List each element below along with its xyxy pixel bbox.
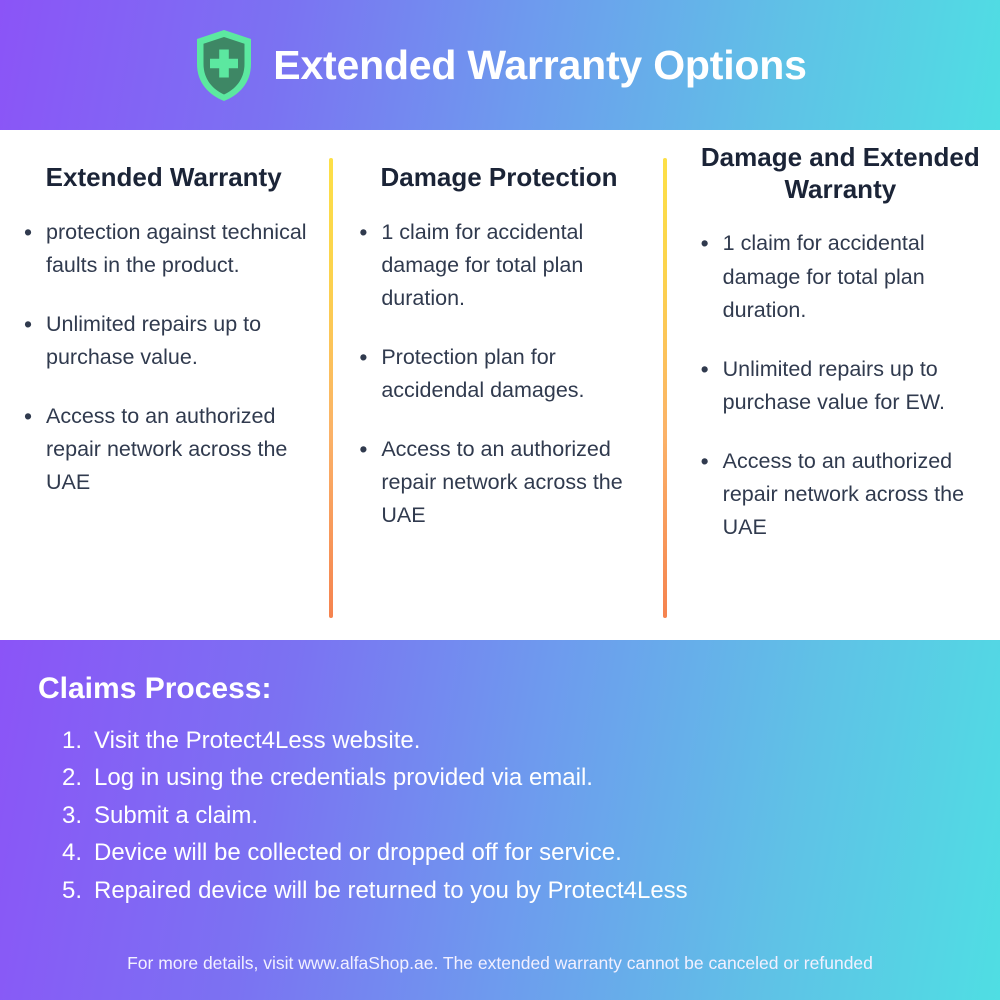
plan-column-damage-protection: Damage Protection 1 claim for accidental… (333, 130, 662, 640)
plan-comparison-columns: Extended Warranty protection against tec… (0, 130, 1000, 640)
list-item: Device will be collected or dropped off … (62, 834, 966, 871)
list-item: Visit the Protect4Less website. (62, 722, 966, 759)
list-item: 1 claim for accidental damage for total … (355, 216, 642, 315)
column-heading: Damage and Extended Warranty (697, 142, 984, 205)
footnote-text: For more details, visit www.alfaShop.ae.… (0, 953, 1000, 974)
page-title: Extended Warranty Options (273, 45, 806, 86)
column-bullet-list: 1 claim for accidental damage for total … (355, 216, 642, 559)
claims-process-section: Claims Process: Visit the Protect4Less w… (0, 640, 1000, 1000)
list-item: Unlimited repairs up to purchase value f… (697, 353, 984, 419)
list-item: Log in using the credentials provided vi… (62, 759, 966, 796)
plan-column-damage-and-extended-warranty: Damage and Extended Warranty 1 claim for… (667, 130, 1000, 640)
claims-process-title: Claims Process: (38, 672, 966, 706)
list-item: Repaired device will be returned to you … (62, 872, 966, 909)
list-item: Access to an authorized repair network a… (20, 400, 307, 499)
list-item: Access to an authorized repair network a… (355, 433, 642, 532)
column-heading: Extended Warranty (20, 162, 307, 194)
header-banner: Extended Warranty Options (0, 0, 1000, 130)
column-bullet-list: 1 claim for accidental damage for total … (697, 227, 984, 570)
list-item: Submit a claim. (62, 797, 966, 834)
list-item: Unlimited repairs up to purchase value. (20, 308, 307, 374)
list-item: Access to an authorized repair network a… (697, 445, 984, 544)
column-heading: Damage Protection (355, 162, 642, 194)
list-item: protection against technical faults in t… (20, 216, 307, 282)
shield-plus-icon (193, 28, 255, 104)
plan-column-extended-warranty: Extended Warranty protection against tec… (0, 130, 329, 640)
list-item: 1 claim for accidental damage for total … (697, 227, 984, 326)
column-bullet-list: protection against technical faults in t… (20, 216, 307, 526)
list-item: Protection plan for accidendal damages. (355, 341, 642, 407)
warranty-options-infographic: Extended Warranty Options Extended Warra… (0, 0, 1000, 1000)
claims-process-steps: Visit the Protect4Less website. Log in u… (62, 722, 966, 909)
